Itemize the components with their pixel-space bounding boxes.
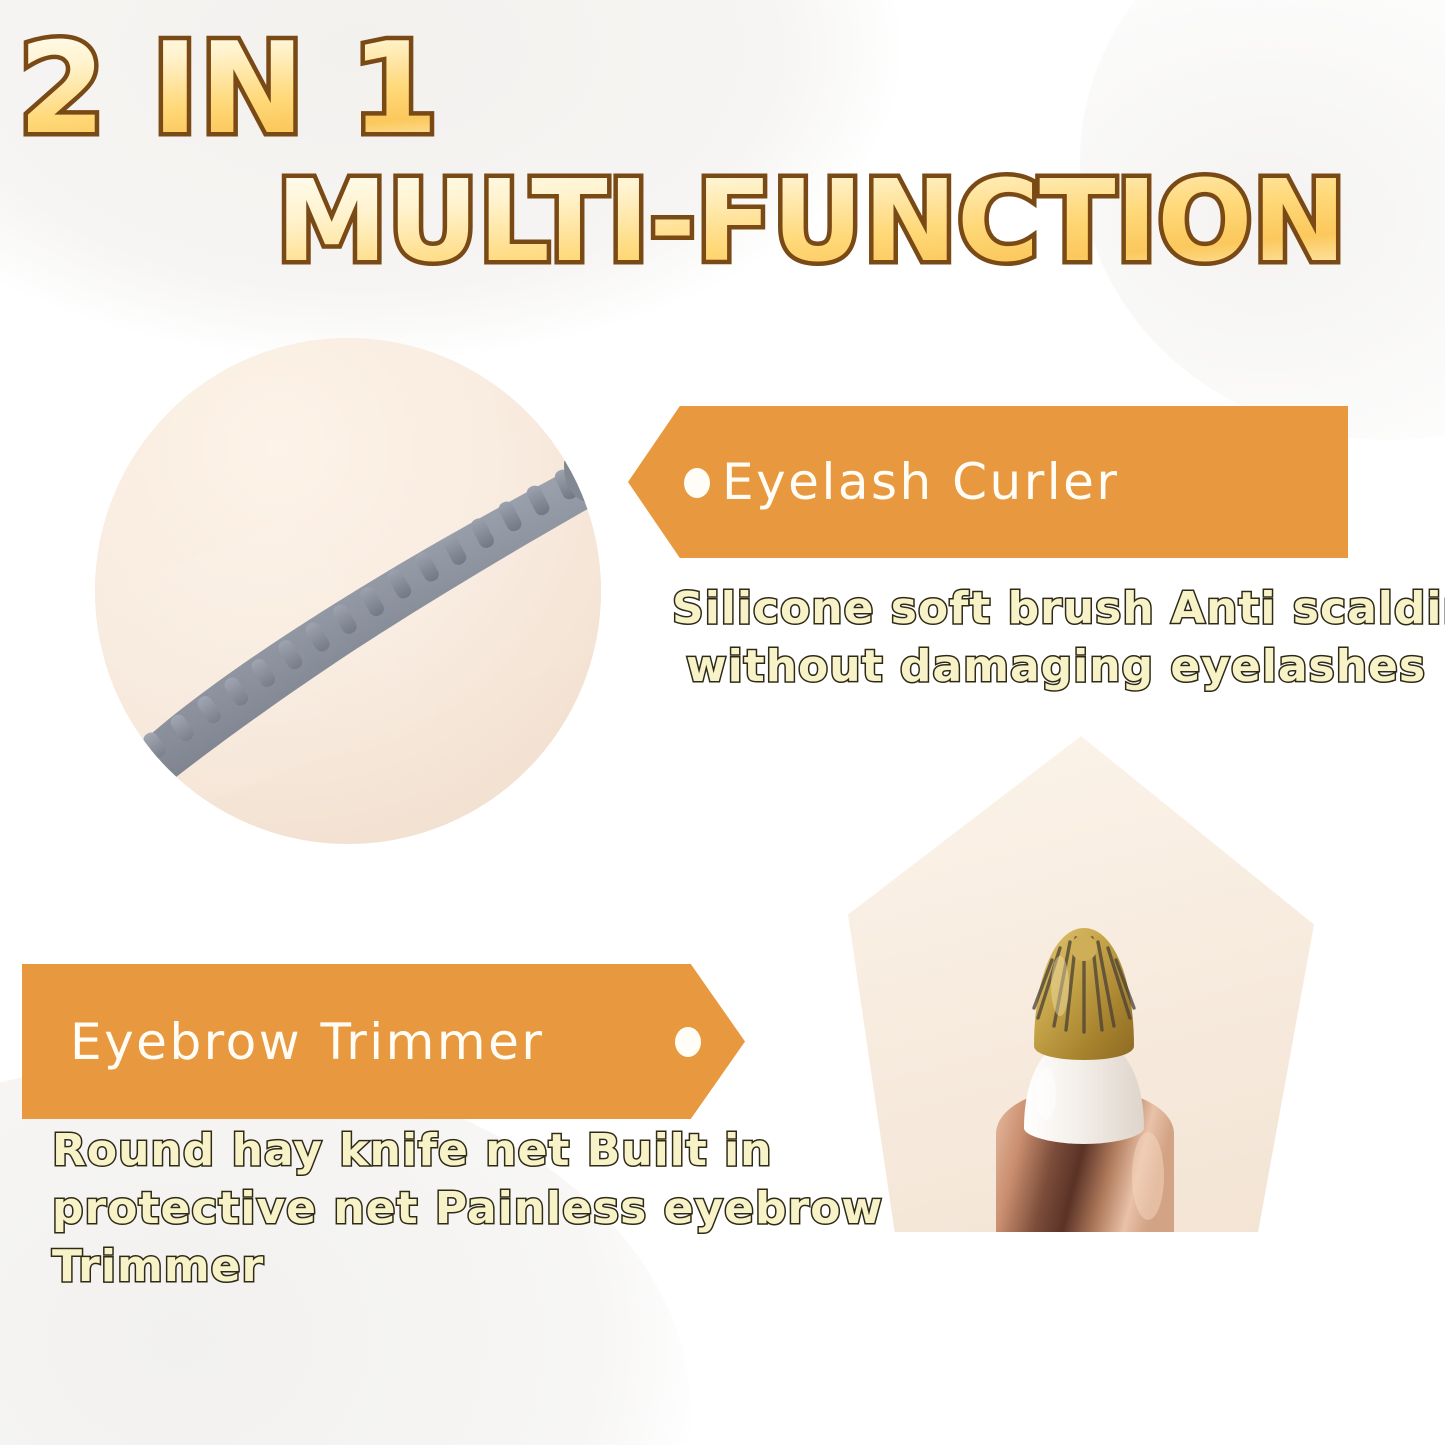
banner-label-eyelash-curler: Eyelash Curler	[722, 457, 1119, 507]
eyebrow-trimmer-photo	[848, 736, 1314, 1232]
page-title-line1: 2 IN 1	[18, 26, 439, 152]
bullet-dot-icon	[684, 468, 710, 498]
banner-label-eyebrow-trimmer: Eyebrow Trimmer	[70, 1017, 544, 1067]
infographic-canvas: 2 IN 1 2 IN 1 MULTI-FUNCTION MULTI-FUNCT…	[0, 0, 1445, 1445]
description-line: protective net Painless eyebrow	[52, 1180, 812, 1238]
description-eyelash-curler: Silicone soft brush Anti scalding withou…	[672, 580, 1440, 696]
description-line: Silicone soft brush Anti scalding	[672, 580, 1440, 638]
description-line: without damaging eyelashes	[672, 638, 1440, 696]
eyelash-curler-photo	[95, 338, 601, 844]
bullet-dot-icon	[675, 1027, 701, 1057]
banner-eyebrow-trimmer[interactable]: Eyebrow Trimmer	[22, 964, 745, 1119]
description-line: Round hay knife net Built in	[52, 1122, 812, 1180]
banner-eyelash-curler[interactable]: Eyelash Curler	[628, 406, 1348, 558]
description-eyebrow-trimmer: Round hay knife net Built in protective …	[52, 1122, 812, 1296]
page-title-line2: MULTI-FUNCTION	[276, 166, 1346, 278]
trimmer-head-icon	[848, 736, 1314, 1232]
description-line: Trimmer	[52, 1238, 812, 1296]
